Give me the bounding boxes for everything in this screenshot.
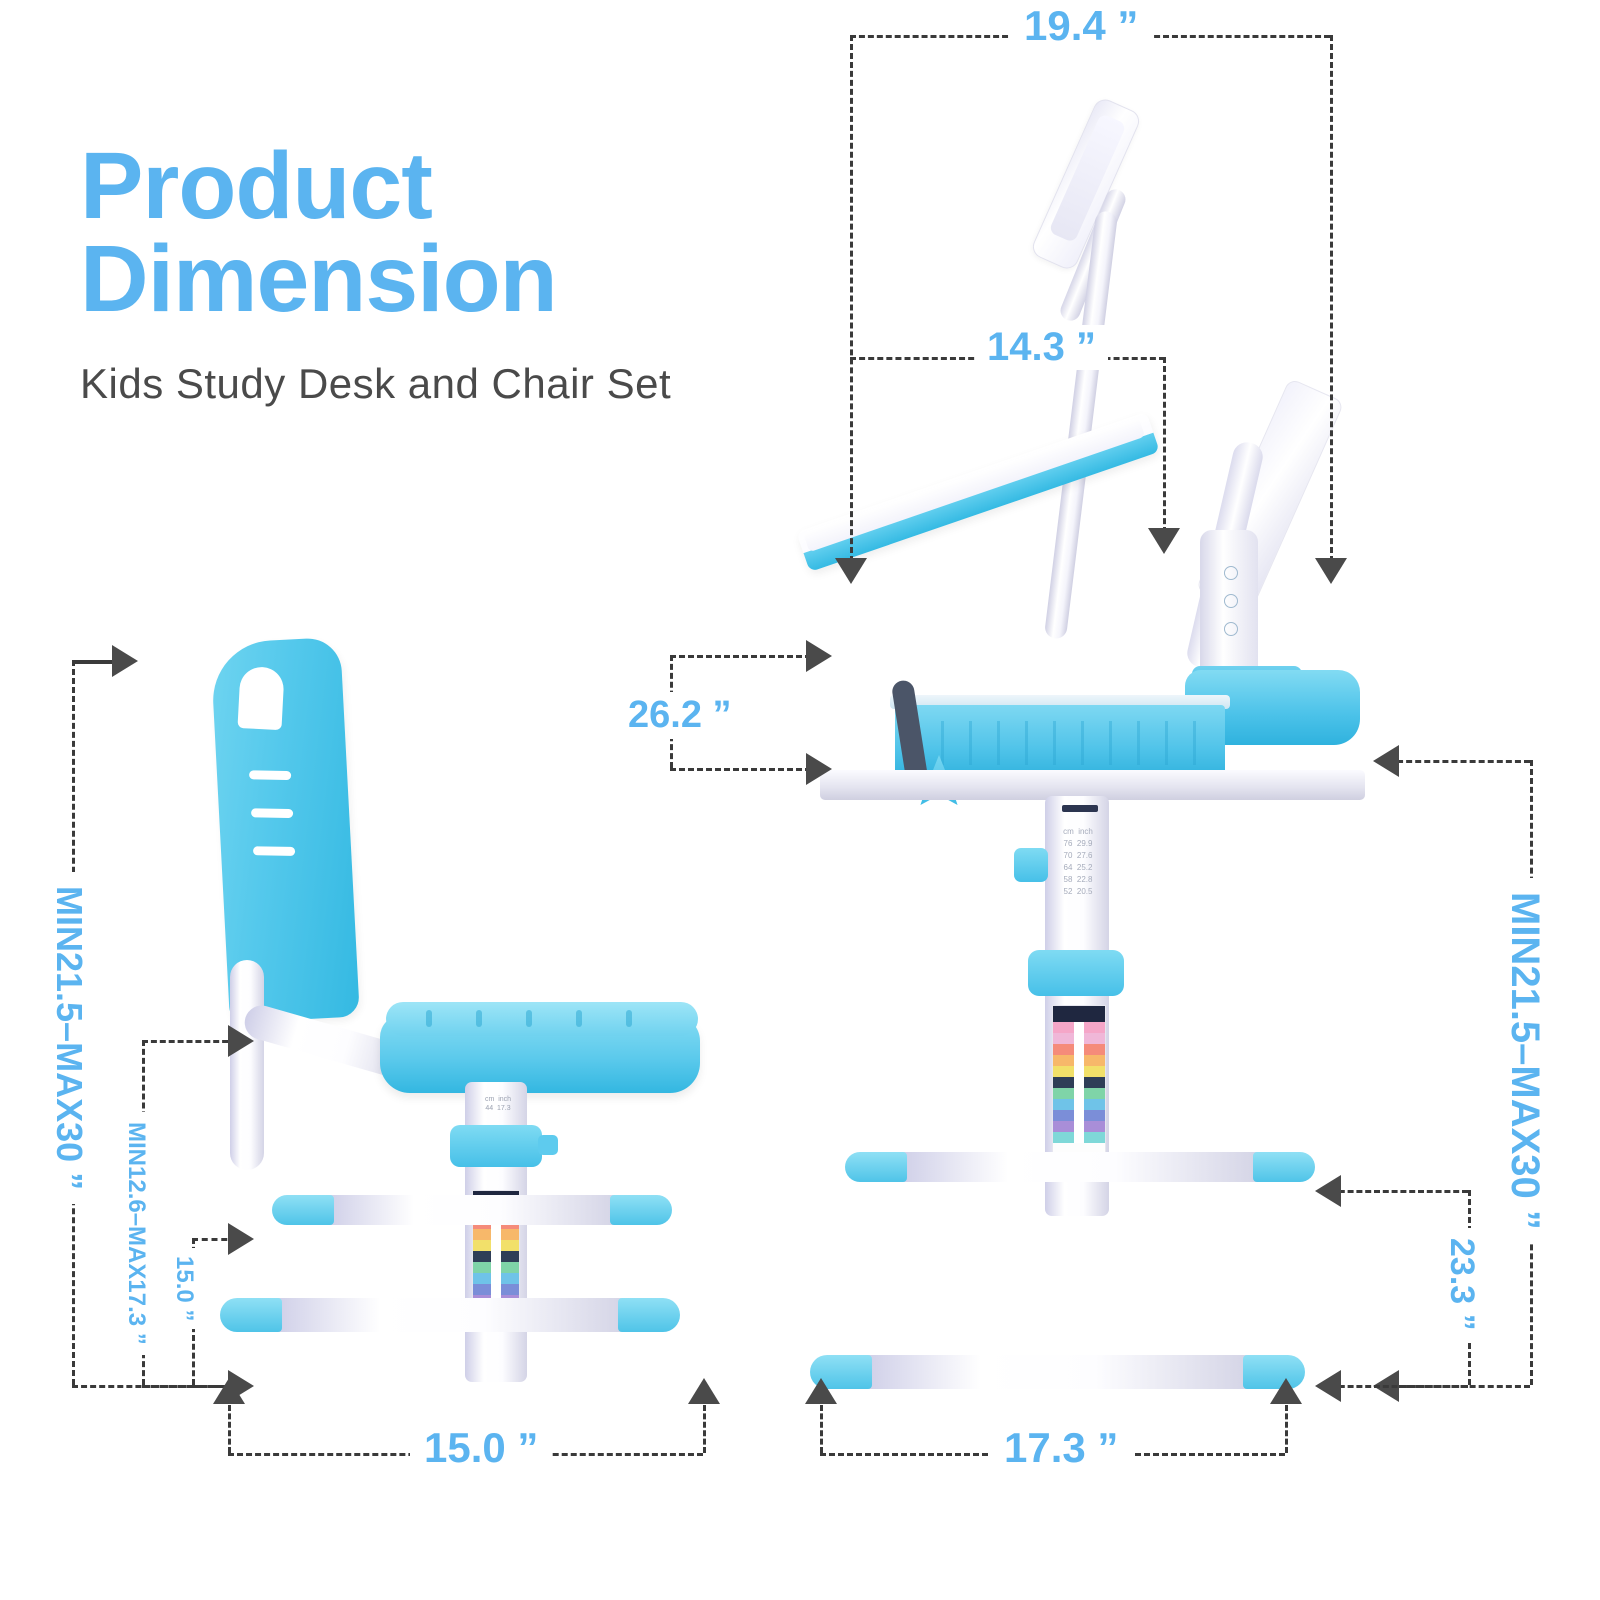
chair-post-collar [450,1125,542,1167]
lamp-brightness-icon [1224,622,1238,636]
label-desk-height-range: MIN21.5–MAX30 ” [1502,878,1547,1244]
label-desk-tilt-depth: 26.2 ” [622,692,738,739]
chair-illustration: cm inch44 17.3 [200,630,720,1390]
page-title: Product Dimension [80,140,780,326]
label-chair-height-range: MIN21.5–MAX30 ” [48,872,90,1204]
storage-drawer [895,705,1225,780]
chair-upper-crossbar [272,1195,672,1225]
arrow-down-right-194-icon [1315,558,1347,584]
title-line-1: Product [80,133,432,239]
arrow-up-right-173-icon [1270,1378,1302,1404]
desk-height-chart-sticker [1052,1005,1106,1157]
label-chair-seat-width-vertical: 15.0 ” [170,1248,198,1329]
title-block: Product Dimension Kids Study Desk and Ch… [80,140,780,408]
arrow-right-upper-262-icon [806,640,832,672]
chair-height-release-knob[interactable] [538,1135,558,1155]
arrow-left-lower-233-icon [1315,1370,1341,1402]
arrow-left-upper-233-icon [1315,1175,1341,1207]
desk-post-collar [1028,950,1124,996]
arrow-up-left-150-icon [213,1378,245,1404]
label-chair-seat-height-range: MIN12.6–MAX17.3 ” [122,1112,150,1355]
title-line-2: Dimension [80,226,557,332]
lamp-power-icon [1224,566,1238,580]
infographic-canvas: Product Dimension Kids Study Desk and Ch… [0,0,1600,1600]
chair-seat-top [386,1002,698,1036]
post-slot [1062,805,1098,812]
arrow-down-left-194-icon [835,558,867,584]
desk-height-release-knob[interactable] [1014,848,1048,882]
arrow-up-left-173-icon [805,1378,837,1404]
arrow-left-upper-desk-height-icon [1373,745,1399,777]
arrow-right-upper-chair-150-icon [228,1223,254,1255]
label-desk-base-depth: 23.3 ” [1442,1228,1481,1341]
arrow-right-seat-height-icon [228,1025,254,1057]
arrow-down-143-icon [1148,528,1180,554]
backrest-post [230,960,264,1170]
label-desk-top-width: 19.4 ” [1010,2,1152,50]
desk-upper-crossbar [845,1152,1315,1182]
page-subtitle: Kids Study Desk and Chair Set [80,360,780,408]
chair-post-scale: cm inch44 17.3 [472,1096,524,1114]
label-desk-base-width: 17.3 ” [990,1424,1132,1472]
chair-backrest [210,637,360,1023]
arrow-up-right-150-icon [688,1378,720,1404]
label-chair-base-width: 15.0 ” [410,1424,552,1472]
lamp-mode-icon [1224,594,1238,608]
desk-post-scale: cm inch76 29.970 27.664 25.258 22.852 20… [1052,826,1104,898]
backrest-handle-cutout [237,666,284,730]
arrow-right-chair-height-icon [112,645,138,677]
desktop-surface [803,418,1145,552]
desk-foot-bar [810,1355,1305,1389]
label-desk-top-depth: 14.3 ” [975,325,1108,370]
chair-foot-bar [220,1298,680,1332]
arrow-right-lower-262-icon [806,753,832,785]
